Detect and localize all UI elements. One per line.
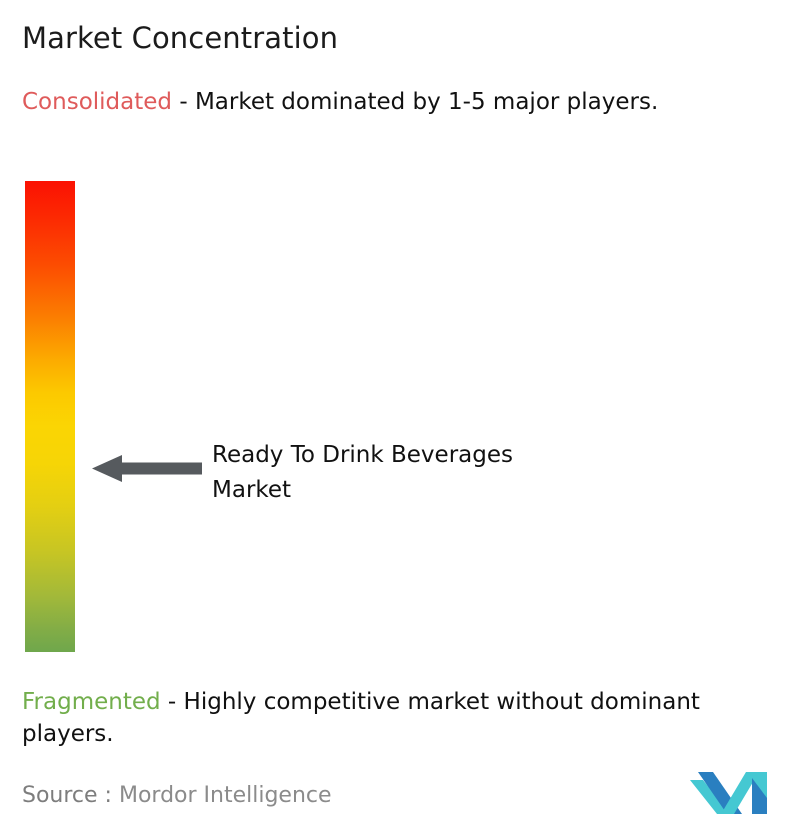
legend-consolidated: Consolidated - Market dominated by 1-5 m… [22, 86, 782, 118]
legend-term-consolidated: Consolidated [22, 89, 172, 115]
mordor-intelligence-logo-icon [690, 768, 776, 814]
concentration-gradient-bar [25, 181, 75, 652]
legend-fragmented: Fragmented - Highly competitive market w… [22, 686, 782, 750]
legend-term-fragmented: Fragmented [22, 689, 161, 715]
source-label: Source : [22, 783, 112, 808]
source-value: Mordor Intelligence [119, 783, 332, 808]
page-title: Market Concentration [22, 19, 338, 57]
callout-label-line1: Ready To Drink Beverages [212, 438, 642, 473]
callout-label: Ready To Drink Beverages Market [212, 438, 642, 508]
callout-label-line2: Market [212, 473, 642, 508]
callout-arrow-icon [92, 455, 202, 482]
legend-separator-fragmented: - [161, 689, 184, 715]
chart-canvas: Market Concentration Consolidated - Mark… [0, 0, 796, 834]
legend-description-consolidated: Market dominated by 1-5 major players. [195, 89, 658, 115]
legend-separator-consolidated: - [172, 89, 195, 115]
source-line: Source : Mordor Intelligence [22, 781, 332, 811]
